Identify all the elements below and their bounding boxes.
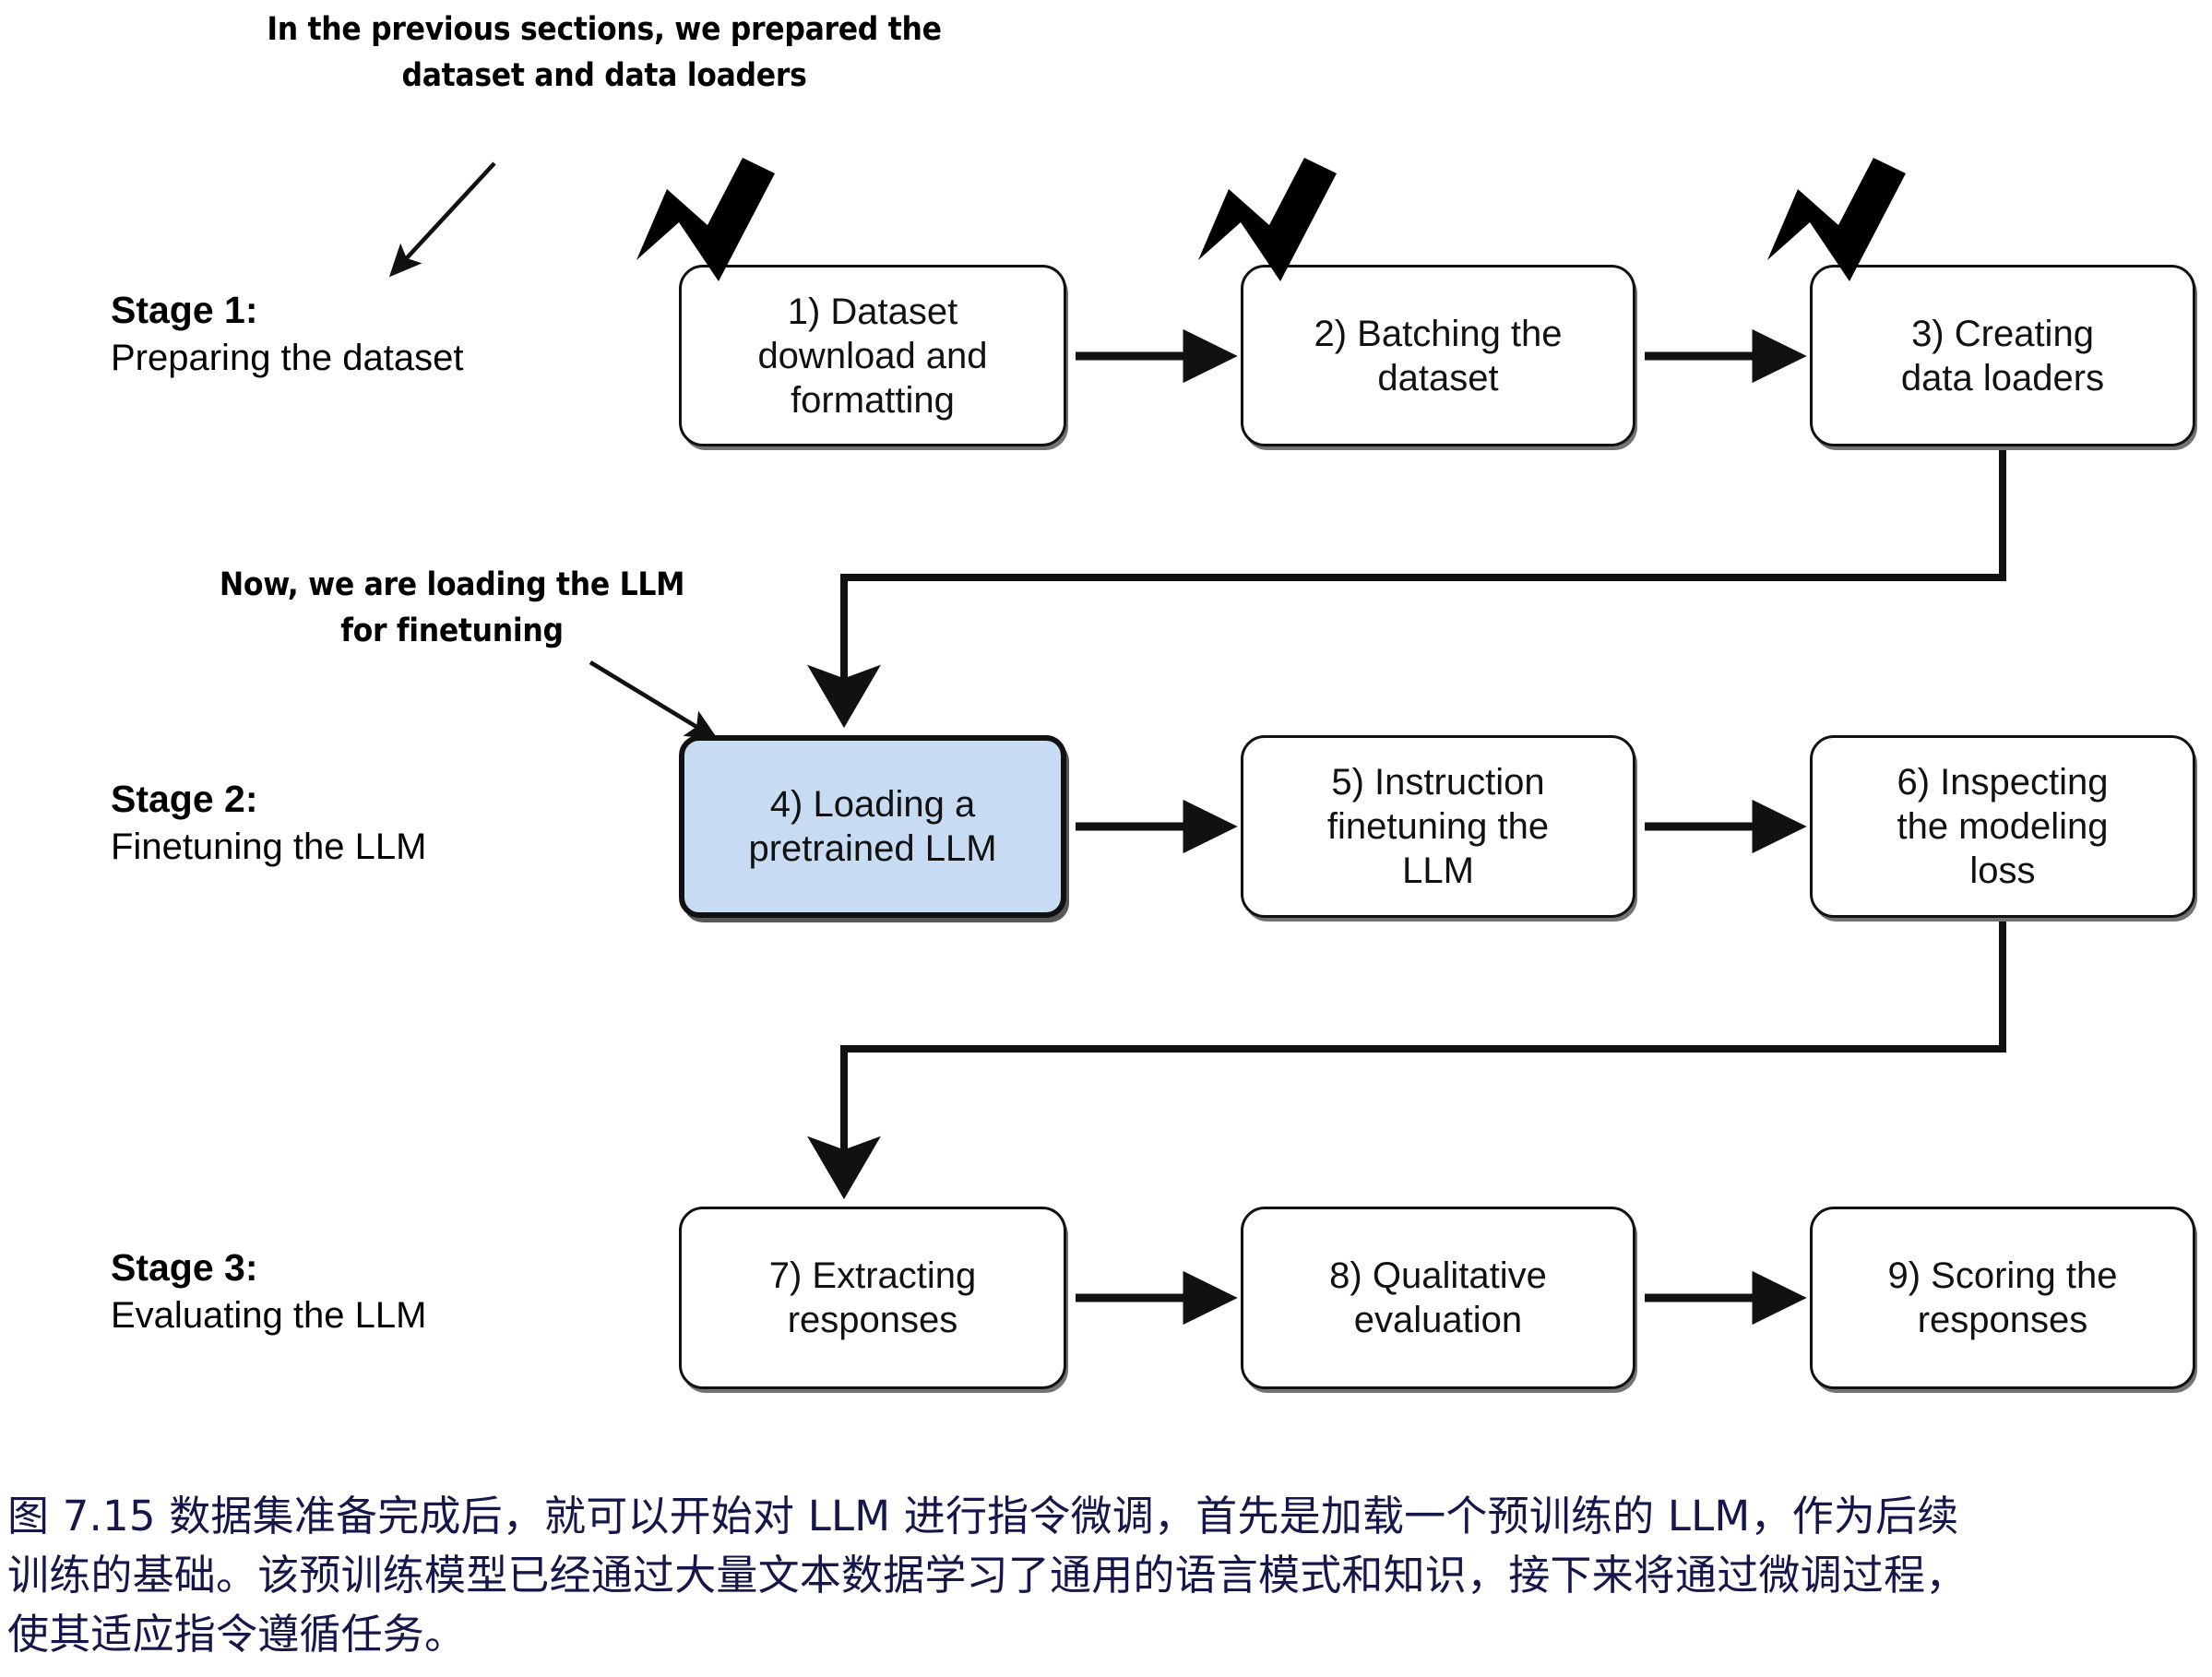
annotation-previous-sections: In the previous sections, we prepared th… [231,7,978,99]
flow-node-dataset-download[interactable]: 1) Dataset download and formatting [679,265,1066,446]
figure-canvas: In the previous sections, we prepared th… [0,0,2212,1677]
caption-line-2: 训练的基础。该预训练模型已经通过大量文本数据学习了通用的语言模式和知识，接下来将… [7,1546,2206,1605]
flow-node-2-label: 2) Batching the dataset [1314,312,1562,400]
connector-node6-to-node7 [844,922,2003,1191]
flow-node-loading-pretrained-llm[interactable]: 4) Loading a pretrained LLM [679,735,1066,918]
stage-3-subtitle: Evaluating the LLM [111,1291,426,1339]
pointer-arrow-annotation-2 [590,662,715,738]
flow-node-6-label: 6) Inspecting the modeling loss [1897,760,2108,893]
flow-node-7-label: 7) Extracting responses [769,1254,977,1342]
flow-node-batching-dataset[interactable]: 2) Batching the dataset [1241,265,1635,446]
stage-1-title: Stage 1: [111,286,463,334]
caption-line-3: 使其适应指令遵循任务。 [7,1605,2206,1664]
stage-2-title: Stage 2: [111,775,426,823]
flow-node-qualitative-evaluation[interactable]: 8) Qualitative evaluation [1241,1207,1635,1389]
flow-node-inspecting-modeling-loss[interactable]: 6) Inspecting the modeling loss [1810,735,2195,918]
pointer-arrow-annotation-1 [392,163,494,274]
stage-label-2: Stage 2: Finetuning the LLM [111,775,426,871]
stage-1-subtitle: Preparing the dataset [111,334,463,382]
flow-node-creating-data-loaders[interactable]: 3) Creating data loaders [1810,265,2195,446]
stage-label-1: Stage 1: Preparing the dataset [111,286,463,382]
connector-node3-to-node4 [844,450,2003,720]
flow-node-instruction-finetuning[interactable]: 5) Instruction finetuning the LLM [1241,735,1635,918]
checkmark-icon-node-1 [636,158,775,281]
stage-label-3: Stage 3: Evaluating the LLM [111,1243,426,1339]
flow-node-scoring-responses[interactable]: 9) Scoring the responses [1810,1207,2195,1389]
flow-node-4-label: 4) Loading a pretrained LLM [748,782,996,871]
stage-3-title: Stage 3: [111,1243,426,1291]
stage-2-subtitle: Finetuning the LLM [111,823,426,871]
checkmark-icon-node-3 [1767,158,1906,281]
checkmark-icon-node-2 [1198,158,1337,281]
caption-line-1: 图 7.15 数据集准备完成后，就可以开始对 LLM 进行指令微调，首先是加载一… [7,1487,2206,1546]
figure-caption: 图 7.15 数据集准备完成后，就可以开始对 LLM 进行指令微调，首先是加载一… [7,1487,2206,1664]
flow-node-5-label: 5) Instruction finetuning the LLM [1327,760,1549,893]
flow-node-3-label: 3) Creating data loaders [1901,312,2104,400]
flow-node-8-label: 8) Qualitative evaluation [1329,1254,1547,1342]
flow-node-1-label: 1) Dataset download and formatting [757,290,987,422]
flow-node-extracting-responses[interactable]: 7) Extracting responses [679,1207,1066,1389]
flow-node-9-label: 9) Scoring the responses [1887,1254,2117,1342]
annotation-loading-llm: Now, we are loading the LLM for finetuni… [171,563,733,654]
